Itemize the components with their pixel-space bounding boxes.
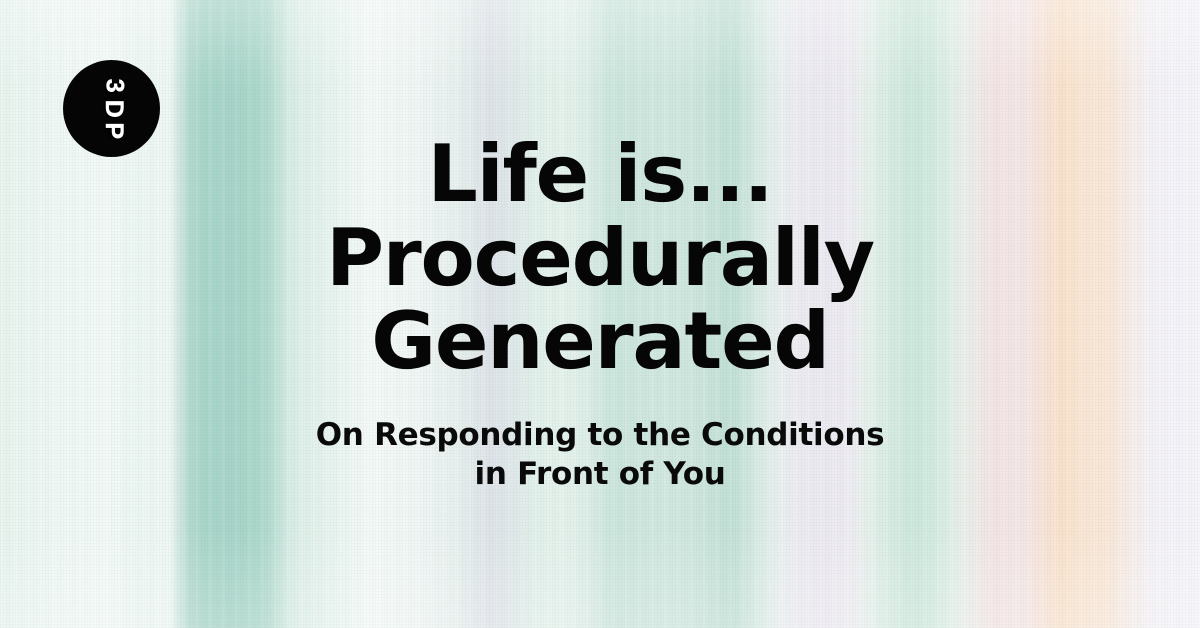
headline-line-1: Life is... — [326, 133, 874, 217]
page-subtitle: On Responding to the Conditions in Front… — [316, 416, 885, 493]
share-card: 3 D P Life is... Procedurally Generated … — [0, 0, 1200, 628]
subhead-line-1: On Responding to the Conditions — [316, 416, 885, 454]
subhead-line-2: in Front of You — [316, 455, 885, 493]
headline-line-3: Generated — [326, 300, 874, 384]
page-title: Life is... Procedurally Generated — [326, 133, 874, 384]
text-block: Life is... Procedurally Generated On Res… — [0, 0, 1200, 628]
headline-line-2: Procedurally — [326, 217, 874, 301]
